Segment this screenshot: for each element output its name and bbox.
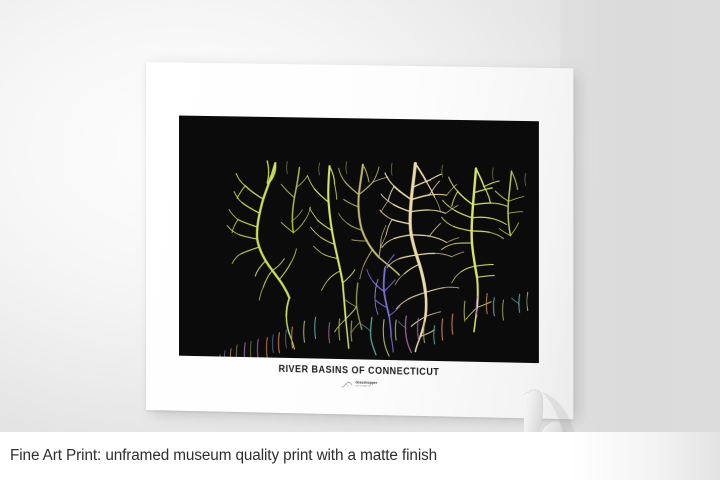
art-print-poster[interactable]: RIVER BASINS OF CONNECTICUT Grasshopper …	[146, 62, 573, 419]
brand-subtitle: GEOGRAPHY	[355, 386, 377, 389]
river-network-svg	[179, 116, 539, 364]
river-basin-map	[179, 116, 539, 364]
poster-container: RIVER BASINS OF CONNECTICUT Grasshopper …	[146, 62, 574, 414]
caption-bar: Fine Art Print: unframed museum quality …	[0, 432, 720, 480]
grasshopper-icon	[340, 381, 352, 388]
scene-background: RIVER BASINS OF CONNECTICUT Grasshopper …	[0, 0, 720, 480]
poster-title: RIVER BASINS OF CONNECTICUT	[171, 362, 547, 381]
map-plate-background	[179, 116, 539, 364]
caption-text: Fine Art Print: unframed museum quality …	[0, 447, 437, 465]
wall-shading	[560, 0, 720, 432]
brand-text-block: Grasshopper GEOGRAPHY	[355, 382, 377, 389]
